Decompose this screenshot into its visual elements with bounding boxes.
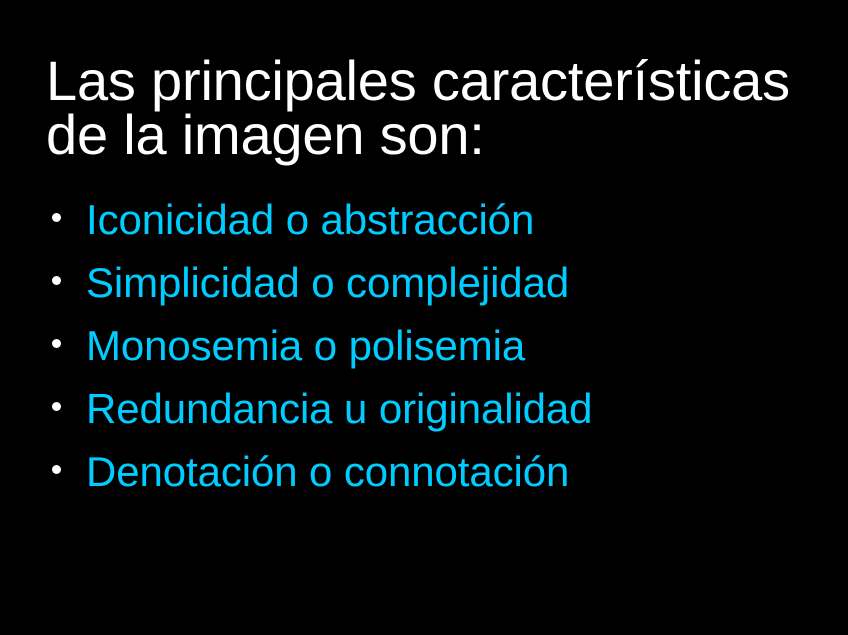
bullet-list: Iconicidad o abstracción Simplicidad o c… [46,197,826,512]
list-item[interactable]: Simplicidad o complejidad [46,260,826,323]
bullet-dot-icon [46,449,86,474]
list-item-label: Iconicidad o abstracción [86,197,826,243]
bullet-dot-icon [46,197,86,222]
list-item[interactable]: Monosemia o polisemia [46,323,826,386]
list-item[interactable]: Redundancia u originalidad [46,386,826,449]
bullet-dot-icon [46,386,86,411]
presentation-slide: Las principales características de la im… [0,0,848,635]
list-item[interactable]: Denotación o connotación [46,449,826,512]
list-item-label: Simplicidad o complejidad [86,260,826,306]
bullet-dot-icon [46,260,86,285]
bullet-dot-icon [46,323,86,348]
list-item-label: Monosemia o polisemia [86,323,826,369]
list-item-label: Redundancia u originalidad [86,386,826,432]
list-item[interactable]: Iconicidad o abstracción [46,197,826,260]
page-title: Las principales características de la im… [46,54,826,162]
list-item-label: Denotación o connotación [86,449,826,495]
